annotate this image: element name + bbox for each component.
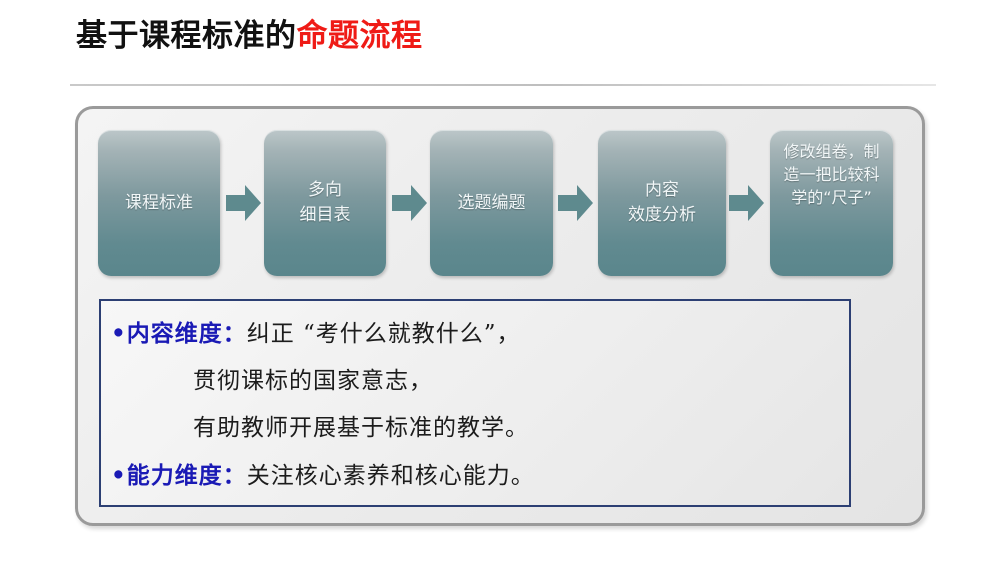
detail-line-1-text: 纠正 “考什么就教什么”， [247, 321, 521, 347]
detail-line-4-text: 关注核心素养和核心能力。 [247, 463, 535, 489]
flow-step-1-label: 课程标准 [125, 191, 193, 216]
process-flow: 课程标准 多向 细目表 选题编题 内容 效度分析 [98, 130, 910, 282]
detail-line-4-lead: •能力维度： [111, 462, 247, 489]
flow-step-4[interactable]: 内容 效度分析 [598, 130, 726, 276]
detail-textbox: •内容维度：纠正 “考什么就教什么”， 贯彻课标的国家意志， 有助教师开展基于标… [99, 299, 851, 507]
right-arrow-icon [226, 183, 262, 223]
detail-line-2-text: 贯彻课标的国家意志， [193, 368, 433, 394]
flow-step-3-label: 选题编题 [458, 191, 526, 216]
flow-step-1[interactable]: 课程标准 [98, 130, 220, 276]
flow-step-4-label: 内容 效度分析 [628, 178, 696, 228]
flow-step-2[interactable]: 多向 细目表 [264, 130, 386, 276]
page-title: 基于课程标准的命题流程 [76, 14, 423, 58]
right-arrow-icon [558, 183, 594, 223]
right-arrow-icon [729, 183, 765, 223]
right-arrow-icon [392, 183, 428, 223]
page-title-primary: 基于课程标准的 [76, 18, 297, 54]
detail-line-3: 有助教师开展基于标准的教学。 [111, 405, 837, 452]
detail-line-3-text: 有助教师开展基于标准的教学。 [193, 415, 529, 441]
content-panel: 课程标准 多向 细目表 选题编题 内容 效度分析 [75, 106, 925, 526]
detail-line-4: •能力维度：关注核心素养和核心能力。 [111, 452, 837, 500]
title-divider [70, 84, 936, 86]
detail-line-1: •内容维度：纠正 “考什么就教什么”， [111, 310, 837, 358]
detail-line-2: 贯彻课标的国家意志， [111, 358, 837, 405]
flow-step-5[interactable]: 修改组卷，制造一把比较科学的“尺子” [770, 130, 893, 276]
flow-step-3[interactable]: 选题编题 [430, 130, 553, 276]
flow-step-2-label: 多向 细目表 [300, 178, 351, 228]
detail-line-1-lead: •内容维度： [111, 320, 247, 347]
flow-step-5-label: 修改组卷，制造一把比较科学的“尺子” [776, 140, 887, 209]
page-title-accent: 命题流程 [297, 18, 423, 54]
